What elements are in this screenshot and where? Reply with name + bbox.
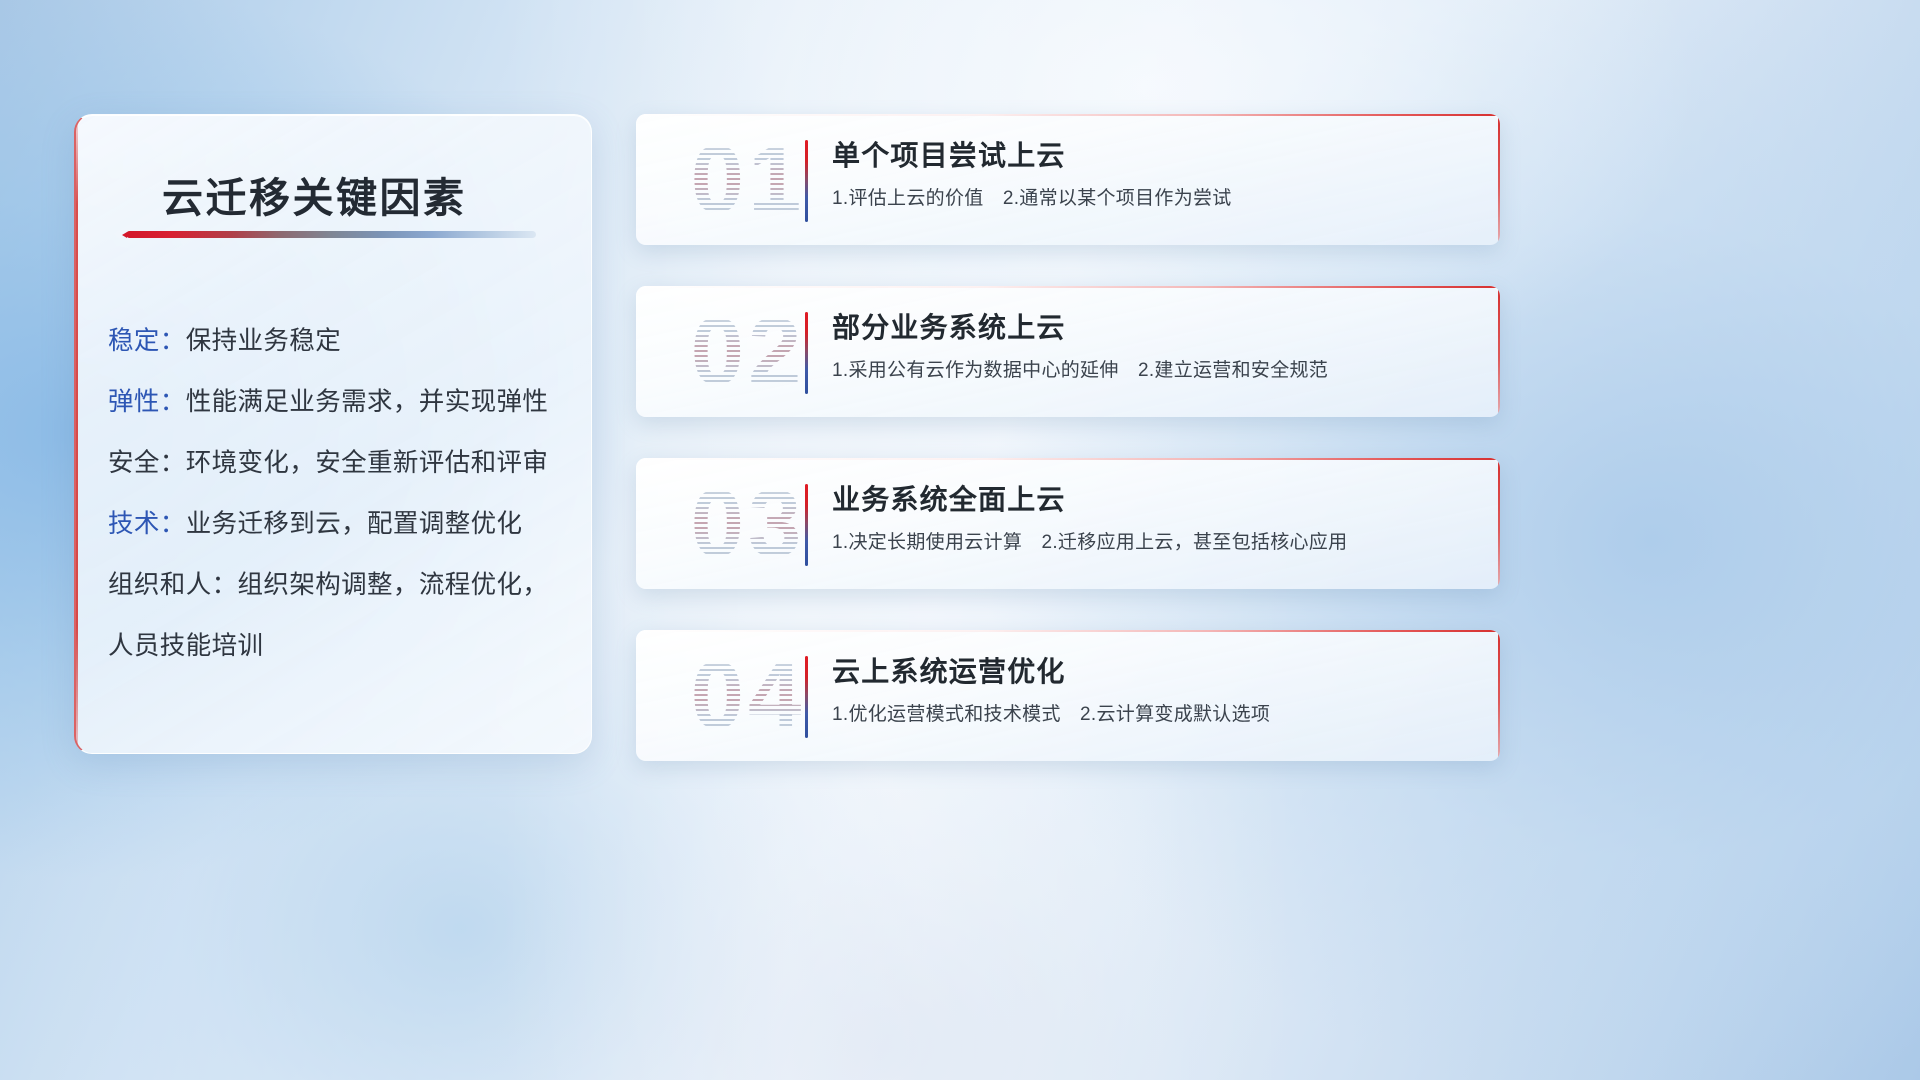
key-factor-item: 组织和人：组织架构调整，流程优化， (108, 555, 578, 616)
key-factor-text: 性能满足业务需求，并实现弹性 (186, 388, 549, 416)
stage-divider-bar (805, 312, 808, 394)
stage-card[interactable]: 0101单个项目尝试上云1.评估上云的价值 2.通常以某个项目作为尝试 (636, 114, 1500, 245)
stage-title: 单个项目尝试上云 (832, 136, 1460, 176)
key-factor-label: 稳定： (108, 327, 186, 355)
key-factor-item: 安全：环境变化，安全重新评估和评审 (108, 433, 578, 494)
stage-card[interactable]: 0404云上系统运营优化1.优化运营模式和技术模式 2.云计算变成默认选项 (636, 630, 1500, 761)
stage-title: 业务系统全面上云 (832, 480, 1460, 520)
stage-title: 云上系统运营优化 (832, 652, 1460, 692)
stage-divider-bar (805, 484, 808, 566)
key-factor-label: 技术： (108, 510, 186, 538)
stage-description: 1.优化运营模式和技术模式 2.云计算变成默认选项 (832, 701, 1460, 729)
key-factor-label: 组织和人： (108, 571, 238, 599)
stage-title: 部分业务系统上云 (832, 308, 1460, 348)
panel-title-underline (126, 231, 536, 238)
key-factor-text: 环境变化，安全重新评估和评审 (186, 449, 549, 477)
stage-card-body: 云上系统运营优化1.优化运营模式和技术模式 2.云计算变成默认选项 (832, 652, 1460, 729)
key-factor-item: 人员技能培训 (108, 616, 578, 677)
stage-card[interactable]: 0202部分业务系统上云1.采用公有云作为数据中心的延伸 2.建立运营和安全规范 (636, 286, 1500, 417)
key-factor-item: 稳定：保持业务稳定 (108, 311, 578, 372)
key-factor-text: 业务迁移到云，配置调整优化 (186, 510, 523, 538)
key-factor-text: 组织架构调整，流程优化， (238, 571, 549, 599)
key-factor-label: 安全： (108, 449, 186, 477)
stage-description: 1.评估上云的价值 2.通常以某个项目作为尝试 (832, 185, 1460, 213)
key-factor-item: 弹性：性能满足业务需求，并实现弹性 (108, 372, 578, 433)
panel-title: 云迁移关键因素 (162, 164, 467, 224)
stage-divider-bar (805, 140, 808, 222)
cloud-migration-stages: 0101单个项目尝试上云1.评估上云的价值 2.通常以某个项目作为尝试0202部… (636, 114, 1500, 802)
stage-description: 1.决定长期使用云计算 2.迁移应用上云，甚至包括核心应用 (832, 529, 1460, 557)
key-factor-label: 弹性： (108, 388, 186, 416)
key-factor-text: 人员技能培训 (108, 632, 263, 660)
stage-divider-bar (805, 656, 808, 738)
key-factors-list: 稳定：保持业务稳定弹性：性能满足业务需求，并实现弹性安全：环境变化，安全重新评估… (108, 311, 578, 677)
stage-card-body: 单个项目尝试上云1.评估上云的价值 2.通常以某个项目作为尝试 (832, 136, 1460, 213)
stage-card-body: 业务系统全面上云1.决定长期使用云计算 2.迁移应用上云，甚至包括核心应用 (832, 480, 1460, 557)
stage-description: 1.采用公有云作为数据中心的延伸 2.建立运营和安全规范 (832, 357, 1460, 385)
stage-card-body: 部分业务系统上云1.采用公有云作为数据中心的延伸 2.建立运营和安全规范 (832, 308, 1460, 385)
stage-card[interactable]: 0303业务系统全面上云1.决定长期使用云计算 2.迁移应用上云，甚至包括核心应… (636, 458, 1500, 589)
key-factors-panel: 云迁移关键因素 稳定：保持业务稳定弹性：性能满足业务需求，并实现弹性安全：环境变… (74, 114, 592, 754)
key-factor-text: 保持业务稳定 (186, 327, 341, 355)
key-factor-item: 技术：业务迁移到云，配置调整优化 (108, 494, 578, 555)
